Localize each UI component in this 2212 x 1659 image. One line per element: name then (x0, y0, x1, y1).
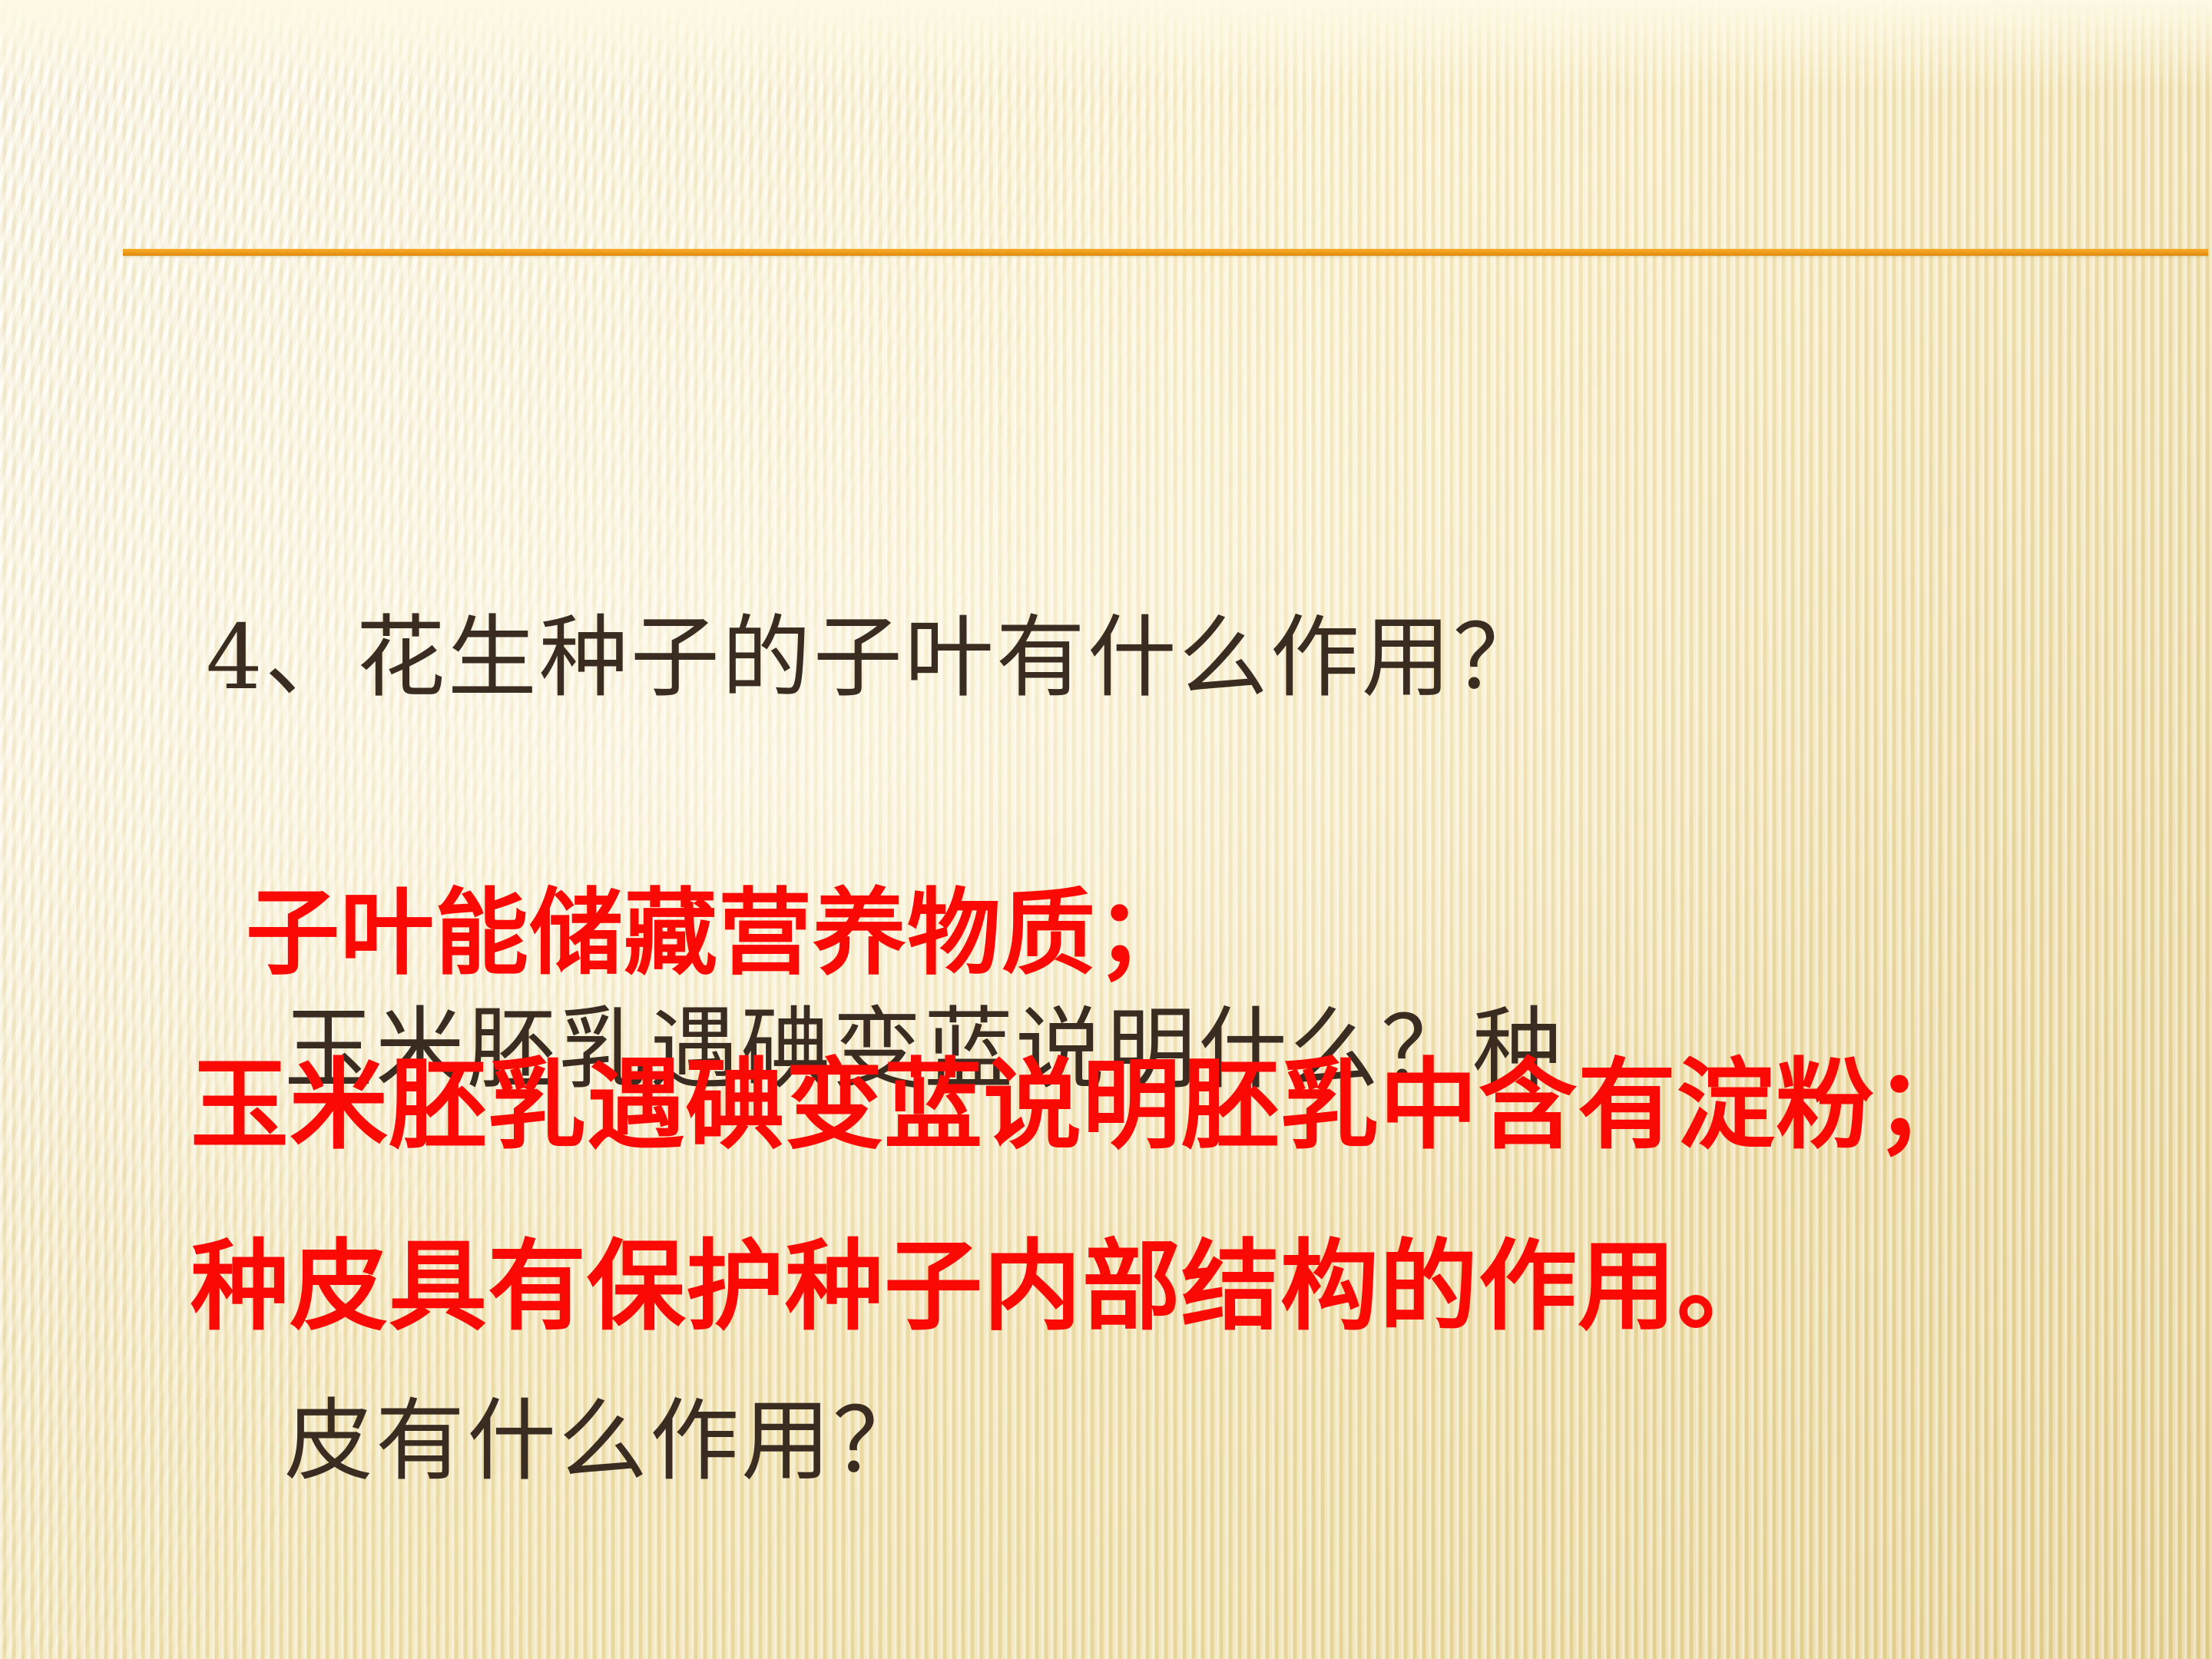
answer-line-2: 玉米胚乳遇碘变蓝说明胚乳中含有淀粉； (0, 1029, 2212, 1181)
answer-line-3: 种皮具有保护种子内部结构的作用。 (0, 1210, 2212, 1363)
slide-background-top-highlight (0, 0, 2212, 92)
presentation-slide: 4、花生种子的子叶有什么作用？ 玉米胚乳遇碘变蓝说明什么？种 皮有什么作用？ 子… (0, 0, 2212, 1659)
answer-line-1: 子叶能储藏营养物质； (0, 865, 2212, 1000)
answer-block: 子叶能储藏营养物质； 玉米胚乳遇碘变蓝说明胚乳中含有淀粉； 种皮具有保护种子内部… (0, 836, 2212, 1392)
question-heading-line-1: 4、花生种子的子叶有什么作用？ (0, 593, 2212, 724)
title-divider-rule (123, 249, 2208, 256)
question-heading-line-3: 皮有什么作用？ (0, 1376, 2212, 1507)
